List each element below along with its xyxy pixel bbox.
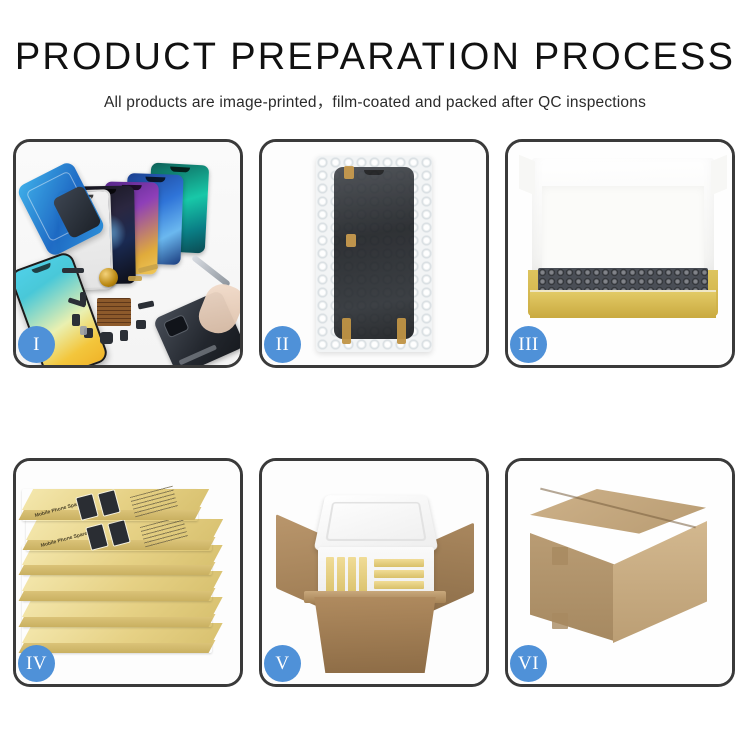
carton-tape: [552, 547, 568, 565]
flex-cable: [80, 326, 87, 335]
small-part: [120, 330, 128, 341]
stacked-box-labeled: Mobile Phone Spare Parts: [22, 489, 198, 521]
screwdriver-tool: [191, 254, 231, 287]
step-badge-3: III: [510, 326, 547, 363]
small-part: [62, 268, 84, 273]
stacked-box: [22, 597, 212, 627]
step-badge-4: IV: [18, 645, 55, 682]
screw-tray-part: [97, 298, 131, 326]
step-badge-1: I: [18, 326, 55, 363]
yellow-box-item: [374, 581, 424, 589]
foam-liner: [542, 186, 704, 274]
stacked-box: [22, 623, 212, 653]
notch-icon: [31, 263, 52, 275]
small-part: [72, 314, 80, 326]
process-step-6: VI: [505, 458, 735, 687]
foam-box-lid: [314, 495, 439, 550]
process-step-4: Mobile Phone Spare Parts Mobile Phone Sp…: [13, 458, 243, 687]
page-subtitle: All products are image-printed，film-coat…: [0, 90, 750, 112]
small-part: [136, 320, 146, 329]
product-preparation-infographic: PRODUCT PREPARATION PROCESS All products…: [0, 0, 750, 750]
small-part: [80, 292, 86, 306]
bubble-wrap-bag: [316, 156, 432, 352]
tape-piece: [346, 234, 356, 247]
screen-assembly-inside: [334, 167, 414, 339]
page-title: PRODUCT PREPARATION PROCESS: [0, 38, 750, 76]
process-step-5: V: [259, 458, 489, 687]
battery-strip: [179, 344, 218, 365]
small-part: [100, 332, 113, 344]
flex-cable-foot: [342, 318, 351, 344]
tape-piece: [344, 166, 354, 179]
process-step-2: II: [259, 139, 489, 368]
stacked-box-labeled: Mobile Phone Spare Parts: [26, 519, 212, 551]
yellow-box-item: [374, 559, 424, 567]
header: PRODUCT PREPARATION PROCESS All products…: [0, 0, 750, 112]
carton-left-face: [530, 521, 614, 641]
step-badge-5: V: [264, 645, 301, 682]
carton-right-face: [613, 521, 707, 643]
process-step-1: I: [13, 139, 243, 368]
step-badge-2: II: [264, 326, 301, 363]
notch-icon: [364, 170, 384, 175]
notch-icon: [170, 167, 190, 173]
small-part: [138, 300, 155, 309]
flex-cable-foot: [397, 318, 406, 344]
step-badge-6: VI: [510, 645, 547, 682]
copper-coil-part: [99, 268, 118, 287]
flex-cable: [128, 276, 142, 281]
yellow-box-item: [374, 570, 424, 578]
stacked-box: [22, 571, 212, 601]
carton-tape: [552, 613, 568, 629]
carton-body: [306, 597, 444, 673]
process-step-grid: I II: [13, 139, 737, 687]
process-step-3: III: [505, 139, 735, 368]
box-stack: Mobile Phone Spare Parts Mobile Phone Sp…: [22, 481, 234, 671]
camera-module-icon: [163, 314, 190, 338]
tray-front-panel: [530, 292, 716, 318]
